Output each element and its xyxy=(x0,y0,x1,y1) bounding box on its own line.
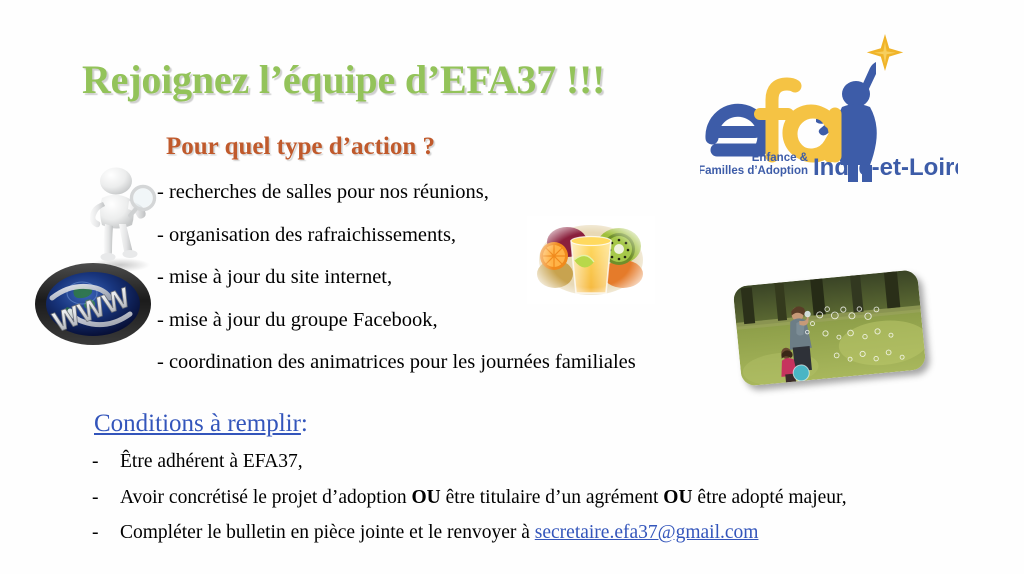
bullet-marker: - xyxy=(92,523,120,543)
list-item: - Être adhérent à EFA37, xyxy=(92,452,992,472)
action-list: - recherches de salles pour nos réunions… xyxy=(157,182,777,395)
www-globe-image: WWW xyxy=(34,262,152,346)
conditions-heading: Conditions à remplir: xyxy=(94,410,308,438)
condition-text: Avoir concrétisé le projet d’adoption OU… xyxy=(120,488,847,508)
section-subtitle: Pour quel type d’action ? xyxy=(166,133,435,161)
list-item: - organisation des rafraichissements, xyxy=(157,225,777,246)
email-link[interactable]: secretaire.efa37@gmail.com xyxy=(535,522,759,543)
logo-region: Indre-et-Loire xyxy=(813,154,958,181)
page-title: Rejoignez l’équipe d’EFA37 !!! xyxy=(82,56,605,103)
condition-text: Être adhérent à EFA37, xyxy=(120,452,303,472)
conditions-heading-text: Conditions à remplir xyxy=(94,410,301,437)
conditions-list: - Être adhérent à EFA37, - Avoir concrét… xyxy=(92,452,992,559)
conditions-heading-colon: : xyxy=(301,410,308,437)
efa-logo: Enfance & Familles d’Adoption Indre-et-L… xyxy=(700,22,958,182)
bullet-marker: - xyxy=(92,452,120,472)
fruit-juice-image xyxy=(527,216,655,304)
list-item: - Compléter le bulletin en pièce jointe … xyxy=(92,523,992,543)
list-item: - mise à jour du groupe Facebook, xyxy=(157,310,777,331)
condition-text: Compléter le bulletin en pièce jointe et… xyxy=(120,523,758,543)
park-bubbles-photo xyxy=(733,269,927,386)
logo-tagline-line2: Familles d’Adoption xyxy=(700,165,808,177)
list-item: - coordination des animatrices pour les … xyxy=(157,352,777,373)
list-item: - mise à jour du site internet, xyxy=(157,267,777,288)
magnifier-figure-image xyxy=(72,166,168,272)
slide-canvas: Rejoignez l’équipe d’EFA37 !!! Pour quel… xyxy=(0,0,1024,574)
list-item: - recherches de salles pour nos réunions… xyxy=(157,182,777,203)
bullet-marker: - xyxy=(92,488,120,508)
list-item: - Avoir concrétisé le projet d’adoption … xyxy=(92,488,992,508)
logo-tagline-line1: Enfance & xyxy=(752,152,808,164)
